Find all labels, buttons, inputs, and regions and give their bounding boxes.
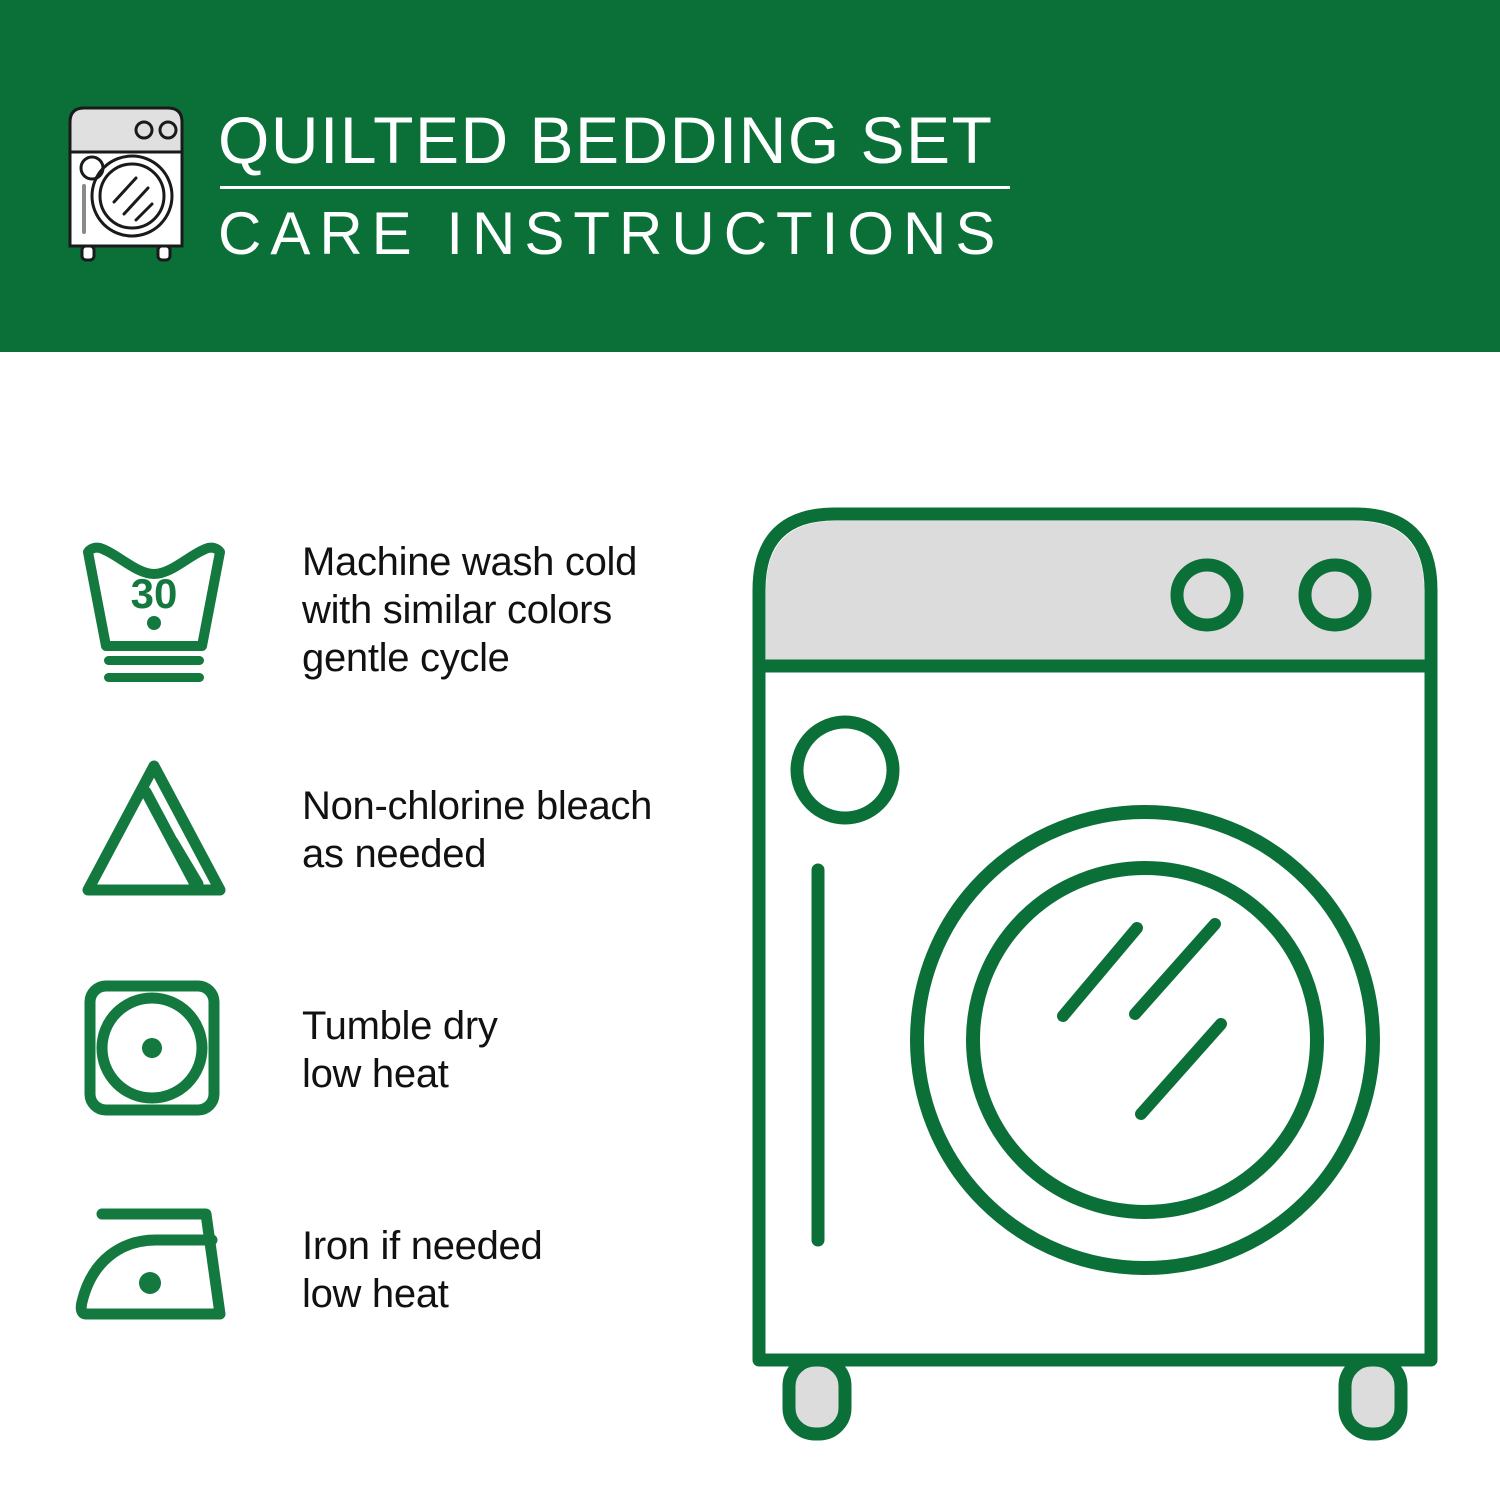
header-text-block: QUILTED BEDDING SET CARE INSTRUCTIONS: [218, 104, 1018, 267]
care-instructions-page: QUILTED BEDDING SET CARE INSTRUCTIONS 30: [0, 0, 1500, 1500]
front-load-washing-machine-illustration: [745, 500, 1445, 1420]
page-title: QUILTED BEDDING SET: [218, 104, 1018, 176]
machine-wash-30-icon: 30: [70, 525, 240, 695]
leg-right: [1345, 1360, 1401, 1434]
care-row-machine-wash: 30 Machine wash cold with similar colors…: [70, 500, 730, 720]
leg-left: [789, 1360, 845, 1434]
control-knob-right: [1305, 565, 1365, 625]
care-row-iron: Iron if needed low heat: [70, 1160, 730, 1380]
care-instruction-list: 30 Machine wash cold with similar colors…: [70, 500, 730, 1380]
care-text-iron: Iron if needed low heat: [302, 1222, 542, 1318]
title-divider: [220, 186, 1010, 189]
washing-machine-icon: [62, 104, 194, 260]
care-text-bleach: Non-chlorine bleach as needed: [302, 782, 652, 878]
care-text-machine-wash: Machine wash cold with similar colors ge…: [302, 538, 637, 682]
header-band: QUILTED BEDDING SET CARE INSTRUCTIONS: [0, 0, 1500, 352]
page-subtitle: CARE INSTRUCTIONS: [218, 201, 1018, 267]
wash-temp-value: 30: [131, 570, 178, 617]
control-knob-left: [1177, 565, 1237, 625]
tumble-dry-low-icon: [70, 965, 240, 1135]
care-text-tumble-dry: Tumble dry low heat: [302, 1002, 498, 1098]
care-row-bleach: Non-chlorine bleach as needed: [70, 720, 730, 940]
non-chlorine-bleach-triangle-icon: [70, 745, 240, 915]
iron-low-heat-icon: [70, 1185, 240, 1355]
care-row-tumble-dry: Tumble dry low heat: [70, 940, 730, 1160]
